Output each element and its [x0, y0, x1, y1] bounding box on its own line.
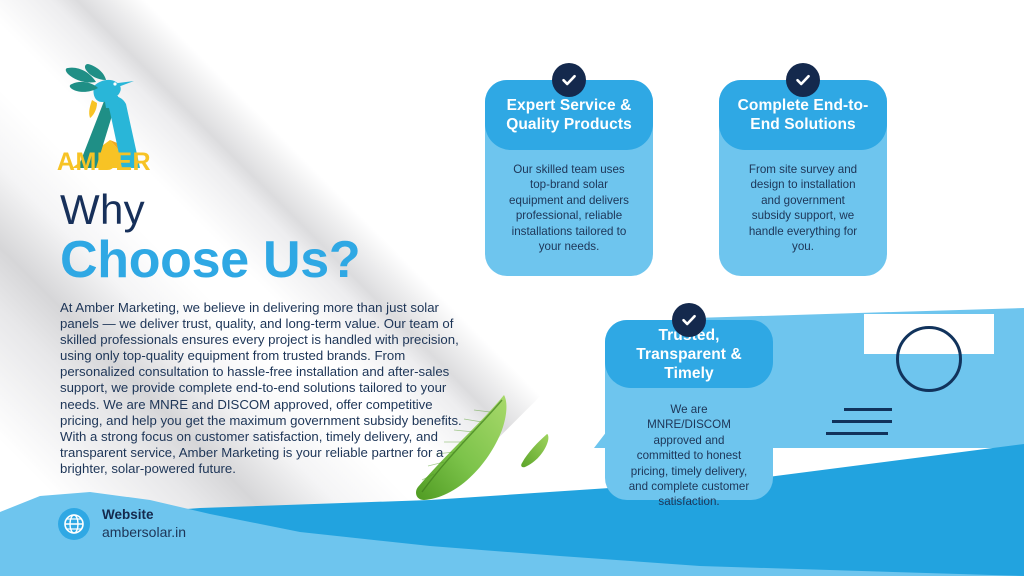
website-url[interactable]: ambersolar.in: [102, 524, 186, 542]
check-circle-icon: [552, 63, 586, 97]
feature-card-description: From site survey and design to installat…: [719, 162, 887, 254]
website-label: Website: [102, 507, 186, 524]
feature-card[interactable]: Trusted, Transparent & Timely We are MNR…: [605, 320, 773, 500]
check-circle-icon: [672, 303, 706, 337]
leaf-small-icon: [520, 432, 550, 468]
website-contact[interactable]: Website ambersolar.in: [58, 507, 186, 541]
page-title-line1: Why: [60, 186, 145, 234]
feature-card-description: Our skilled team uses top-brand solar eq…: [485, 162, 653, 254]
circle-outline-icon: [896, 326, 962, 392]
check-circle-icon: [786, 63, 820, 97]
feature-card[interactable]: Expert Service & Quality Products Our sk…: [485, 80, 653, 276]
poster-canvas: AMBER Why Choose Us? At Amber Marketing,…: [0, 0, 1024, 576]
website-text: Website ambersolar.in: [102, 507, 186, 541]
three-lines-icon: [832, 408, 896, 444]
feature-card-description: We are MNRE/DISCOM approved and committe…: [605, 402, 773, 510]
logo-wordmark: AMBER: [48, 148, 160, 177]
globe-icon: [58, 508, 90, 540]
page-title-line2: Choose Us?: [60, 230, 360, 290]
feature-card[interactable]: Complete End-to-End Solutions From site …: [719, 80, 887, 276]
body-paragraph: At Amber Marketing, we believe in delive…: [60, 300, 464, 477]
